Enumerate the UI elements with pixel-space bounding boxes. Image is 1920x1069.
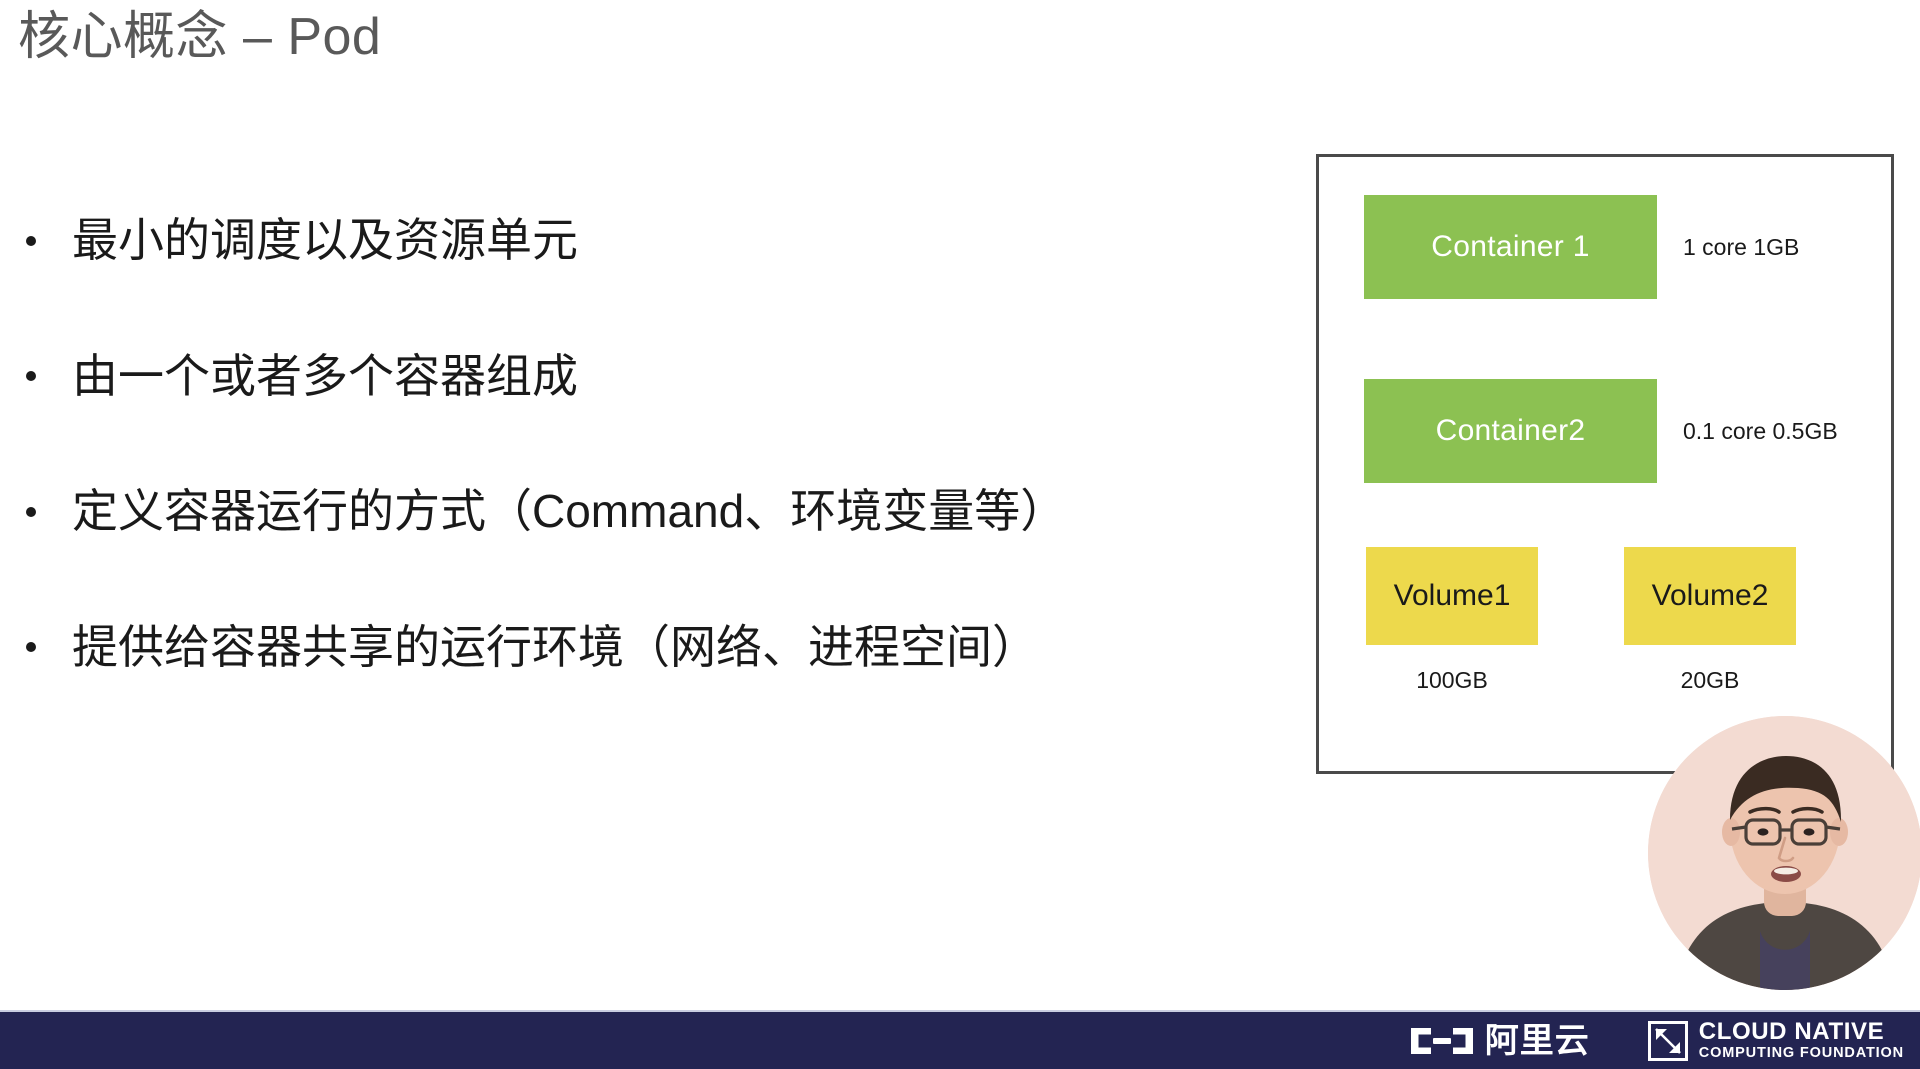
bullet-text: 定义容器运行的方式（Command、环境变量等） <box>72 485 1066 537</box>
cncf-wordmark: CLOUD NATIVE COMPUTING FOUNDATION <box>1699 1020 1904 1061</box>
volume-box: Volume1 <box>1366 547 1538 645</box>
volume-size-label: 100GB <box>1416 667 1488 694</box>
volume-cell: Volume1 100GB <box>1366 547 1538 694</box>
bullet-item: 提供给容器共享的运行环境（网络、进程空间） <box>14 622 1284 674</box>
alibaba-cloud-logo: 阿里云 <box>1407 1024 1590 1058</box>
bullet-dot-icon <box>26 507 36 517</box>
cncf-mark-icon <box>1648 1021 1688 1061</box>
container-box: Container 1 <box>1364 195 1657 299</box>
slide-title: 核心概念 – Pod <box>18 6 381 68</box>
container-row: Container 1 1 core 1GB <box>1364 195 1799 299</box>
bullet-text: 由一个或者多个容器组成 <box>72 350 578 402</box>
presenter-webcam-bubble[interactable] <box>1648 716 1920 990</box>
bullet-dot-icon <box>26 371 36 381</box>
bullet-item: 最小的调度以及资源单元 <box>14 215 1284 267</box>
bullet-dot-icon <box>26 236 36 246</box>
volume-cell: Volume2 20GB <box>1624 547 1796 694</box>
bullet-text: 提供给容器共享的运行环境（网络、进程空间） <box>72 621 1038 673</box>
bullet-dot-icon <box>26 642 36 652</box>
cncf-primary-text: CLOUD NATIVE <box>1699 1020 1904 1044</box>
bullet-list: 最小的调度以及资源单元 由一个或者多个容器组成 定义容器运行的方式（Comman… <box>14 215 1284 673</box>
alibaba-cloud-wordmark: 阿里云 <box>1485 1024 1590 1058</box>
volume-box: Volume2 <box>1624 547 1796 645</box>
cncf-secondary-text: COMPUTING FOUNDATION <box>1699 1046 1904 1061</box>
footer-bar: 阿里云 CLOUD NATIVE COMPUTING FOUNDATION <box>0 1010 1920 1069</box>
container-row: Container2 0.1 core 0.5GB <box>1364 379 1838 483</box>
bullet-item: 定义容器运行的方式（Command、环境变量等） <box>14 486 1284 538</box>
cncf-logo: CLOUD NATIVE COMPUTING FOUNDATION <box>1648 1020 1904 1061</box>
presenter-video-frame <box>1648 716 1920 990</box>
container-spec-label: 0.1 core 0.5GB <box>1683 418 1838 445</box>
presentation-slide: 核心概念 – Pod 最小的调度以及资源单元 由一个或者多个容器组成 定义容器运… <box>0 0 1920 1069</box>
volume-size-label: 20GB <box>1681 667 1740 694</box>
container-box: Container2 <box>1364 379 1657 483</box>
bullet-item: 由一个或者多个容器组成 <box>14 351 1284 403</box>
container-spec-label: 1 core 1GB <box>1683 234 1799 261</box>
alibaba-cloud-mark-icon <box>1407 1024 1477 1058</box>
bullet-text: 最小的调度以及资源单元 <box>72 214 578 266</box>
pod-diagram: Container 1 1 core 1GB Container2 0.1 co… <box>1316 154 1894 774</box>
volume-row: Volume1 100GB Volume2 20GB <box>1366 547 1796 694</box>
